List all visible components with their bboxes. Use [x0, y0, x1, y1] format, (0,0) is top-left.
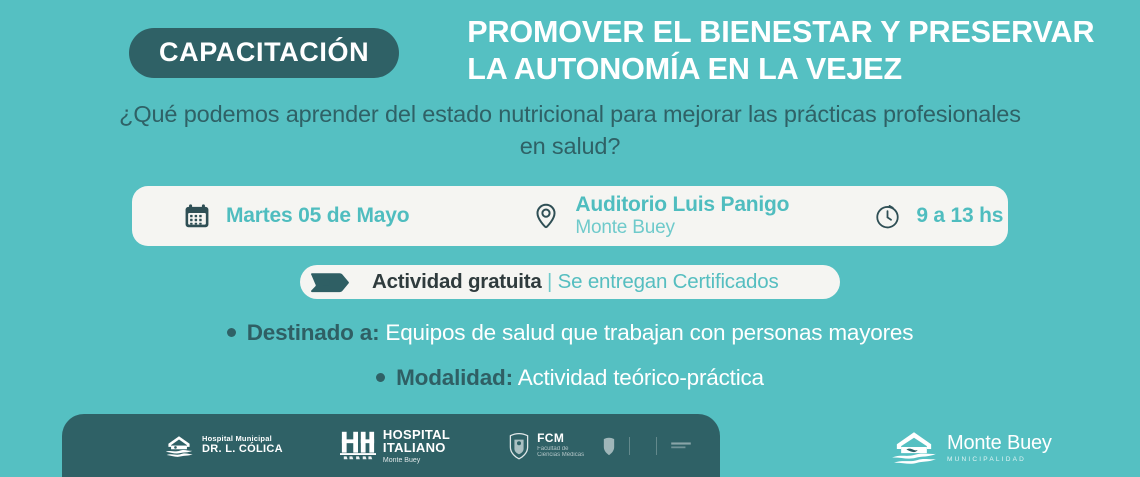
- header-row: CAPACITACIÓN PROMOVER EL BIENESTAR Y PRE…: [0, 14, 1140, 88]
- footer-logo-bar: Hospital Municipal DR. L. CÓLICA: [62, 414, 720, 477]
- bullet-label: Modalidad:: [396, 365, 513, 390]
- logo-colica-text: Hospital Municipal DR. L. CÓLICA: [202, 435, 283, 456]
- monte-buey-crest-icon: [890, 428, 938, 468]
- title-line-2: LA AUTONOMÍA EN LA VEJEZ: [467, 51, 1094, 88]
- logo-fcm-text: FCM Facultad de Ciencias Médicas: [537, 432, 584, 460]
- flag-banner-icon: [310, 270, 352, 295]
- logo-colica-line2: DR. L. CÓLICA: [202, 443, 283, 456]
- page-title: PROMOVER EL BIENESTAR Y PRESERVAR LA AUT…: [467, 14, 1094, 88]
- map-pin-icon: [531, 201, 561, 231]
- bullet-label: Destinado a:: [247, 320, 380, 345]
- info-item-date: Martes 05 de Mayo: [182, 201, 409, 231]
- clock-icon: [872, 201, 902, 231]
- info-text-time: 9 a 13 hs: [916, 204, 1003, 228]
- ribbon-text: Actividad gratuita | Se entregan Certifi…: [372, 272, 779, 293]
- logo-hospital-italiano: HOSPITAL ITALIANO Monte Buey: [338, 428, 450, 464]
- event-time: 9 a 13 hs: [916, 204, 1003, 228]
- logo-ministerio-group: [602, 436, 692, 456]
- ribbon-separator: |: [542, 270, 558, 293]
- logo-fcm-line3: Ciencias Médicas: [537, 452, 584, 459]
- logo-fcm-line2: Facultad de: [537, 446, 584, 453]
- monte-buey-crest-icon: [164, 431, 194, 461]
- logo-italiano-line2: ITALIANO: [383, 441, 450, 454]
- logo-fcm-line1: FCM: [537, 432, 584, 446]
- ribbon-strong-text: Actividad gratuita: [372, 270, 542, 293]
- bullet-list: Destinado a: Equipos de salud que trabaj…: [0, 322, 1140, 411]
- info-item-time: 9 a 13 hs: [872, 201, 1003, 231]
- monte-buey-text: Monte Buey MUNICIPALIDAD: [947, 433, 1052, 464]
- logo-monte-buey-municipalidad: Monte Buey MUNICIPALIDAD: [890, 428, 1052, 468]
- free-activity-ribbon: Actividad gratuita | Se entregan Certifi…: [300, 265, 840, 299]
- monte-buey-name: Monte Buey: [947, 433, 1052, 454]
- event-date: Martes 05 de Mayo: [226, 204, 409, 228]
- page-subtitle: ¿Qué podemos aprender del estado nutrici…: [0, 98, 1140, 163]
- title-line-1: PROMOVER EL BIENESTAR Y PRESERVAR: [467, 14, 1094, 51]
- ribbon-light-text: Se entregan Certificados: [558, 270, 779, 293]
- logo-divider: [629, 437, 630, 455]
- unc-shield-icon: [508, 432, 530, 460]
- bullet-value: Equipos de salud que trabajan con person…: [379, 320, 913, 345]
- event-venue: Auditorio Luis Panigo: [575, 193, 789, 217]
- hi-monogram-icon: [338, 428, 378, 464]
- info-item-place: Auditorio Luis Panigo Monte Buey: [531, 193, 789, 240]
- info-text-place: Auditorio Luis Panigo Monte Buey: [575, 193, 789, 240]
- logo-italiano-line3: Monte Buey: [383, 457, 450, 464]
- logo-italiano-text: HOSPITAL ITALIANO Monte Buey: [383, 428, 450, 464]
- bullet-dot-icon: [376, 373, 385, 382]
- ministerio-wordmark-icon: [670, 438, 692, 454]
- poster-canvas: CAPACITACIÓN PROMOVER EL BIENESTAR Y PRE…: [0, 0, 1140, 477]
- calendar-icon: [182, 201, 212, 231]
- list-item: Modalidad: Actividad teórico-práctica: [0, 367, 1140, 390]
- bullet-dot-icon: [227, 328, 236, 337]
- bullet-value: Actividad teórico-práctica: [513, 365, 764, 390]
- monte-buey-tagline: MUNICIPALIDAD: [947, 457, 1052, 464]
- logo-hospital-municipal-colica: Hospital Municipal DR. L. CÓLICA: [164, 431, 283, 461]
- list-item: Destinado a: Equipos de salud que trabaj…: [0, 322, 1140, 345]
- logo-italiano-line1: HOSPITAL: [383, 428, 450, 441]
- event-city: Monte Buey: [575, 217, 789, 240]
- logo-fcm-unc: FCM Facultad de Ciencias Médicas: [508, 432, 584, 460]
- ministerio-icon: [602, 436, 616, 456]
- info-text-date: Martes 05 de Mayo: [226, 204, 409, 228]
- event-info-card: Martes 05 de Mayo Auditorio Luis Panigo …: [132, 186, 1008, 246]
- capacitacion-badge: CAPACITACIÓN: [129, 28, 399, 78]
- logo-divider: [656, 437, 657, 455]
